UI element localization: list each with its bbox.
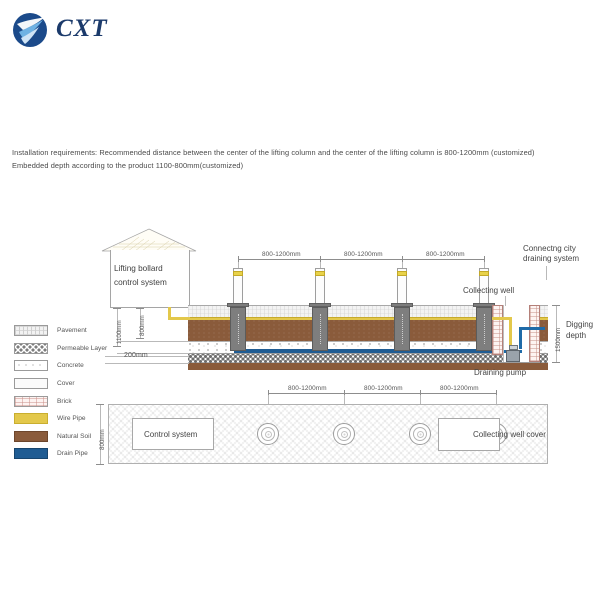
bollard-flange: [473, 303, 495, 307]
collecting-well-right-wall: [529, 305, 540, 362]
depth-800-dim-line: [140, 308, 141, 338]
legend-label: Natural Soil: [57, 433, 91, 440]
legend-item-cover: Cover: [14, 375, 134, 393]
legend-label: Drain Pipe: [57, 450, 88, 457]
bollard-casing: [394, 307, 410, 351]
wire-pipe-into-well: [509, 317, 512, 347]
section-dim-leader: [484, 262, 485, 270]
bollard-reflective-band-icon: [397, 271, 407, 276]
plan-width-label: 800mm: [99, 429, 106, 450]
wire-pipe-well-elbow: [492, 317, 512, 320]
diagram-page: CXT Installation requirements: Recommend…: [0, 0, 600, 600]
city-drain-leader: [546, 266, 547, 280]
drain-pipe-base: [504, 350, 522, 353]
depth-800-label: 800mm: [139, 315, 146, 336]
brand-logo: CXT: [10, 8, 190, 52]
legend-label: Permeable Layer: [57, 345, 107, 352]
section-spacing-label-1: 800-1200mm: [262, 251, 301, 258]
section-dim-leader: [238, 262, 239, 270]
collecting-well-left-wall: [492, 305, 503, 355]
section-dim-line-3: [402, 259, 484, 260]
concrete-layer: [188, 341, 548, 354]
note-line-1: Installation requirements: Recommended d…: [12, 146, 592, 159]
digging-depth-tick-top: [552, 305, 560, 306]
bollard-flange: [227, 303, 249, 307]
draining-pump: [506, 350, 520, 362]
wire-pipe-run: [168, 317, 190, 320]
wire-pipe-layer: [188, 317, 548, 322]
section-dim-leader: [320, 262, 321, 270]
section-dim-tick: [238, 256, 239, 264]
bollard-reflective-band-icon: [315, 271, 325, 276]
city-drain-label-line1: Connectng city: [523, 244, 576, 253]
plan-spacing-label-3: 800-1200mm: [440, 385, 479, 392]
control-system-label: Lifting bollard control system: [114, 262, 190, 290]
control-system-label-line2: control system: [114, 276, 190, 290]
legend-item-concrete: Concrete: [14, 357, 134, 375]
bollard-casing: [230, 307, 246, 351]
depth-800-tick-bottom: [136, 338, 144, 339]
plan-width-tick-top: [96, 404, 104, 405]
pavement-layer: [188, 305, 548, 319]
digging-depth-dim-line: [556, 305, 557, 362]
bollard-reflective-band-icon: [233, 271, 243, 276]
collecting-well-leader: [505, 296, 506, 306]
note-line-2: Embedded depth according to the product …: [12, 159, 592, 172]
section-dim-leader: [402, 262, 403, 270]
plan-width-tick-bottom: [96, 464, 104, 465]
control-house-body: [110, 250, 190, 308]
control-system-label-line1: Lifting bollard: [114, 262, 190, 276]
section-spacing-label-3: 800-1200mm: [426, 251, 465, 258]
bollard-shaft: [233, 268, 243, 306]
bollard-casing: [476, 307, 492, 351]
section-dim-line-2: [320, 259, 402, 260]
plan-control-system-label: Control system: [144, 430, 197, 439]
bollard-shaft: [315, 268, 325, 306]
plan-bollard-cover: [333, 423, 355, 445]
legend-item-permeable-layer: Permeable Layer: [14, 340, 134, 358]
city-drain-label-line2: draining system: [523, 254, 579, 263]
depth-1100-tick-top: [113, 308, 121, 309]
depth-800-tick-top: [136, 308, 144, 309]
plan-bollard-cover: [257, 423, 279, 445]
legend-label: Pavement: [57, 327, 87, 334]
concrete-swatch-icon: [14, 360, 48, 371]
legend-label: Brick: [57, 398, 72, 405]
installation-note: Installation requirements: Recommended d…: [12, 146, 592, 172]
digging-depth-label-line2: depth: [566, 331, 586, 340]
brick-swatch-icon: [14, 396, 48, 407]
permeable-layer: [188, 353, 548, 365]
legend-label: Concrete: [57, 362, 84, 369]
permeable-layer-swatch-icon: [14, 343, 48, 354]
control-house-roof: [101, 228, 197, 252]
bollard-casing: [312, 307, 328, 351]
legend-label: Cover: [57, 380, 75, 387]
collecting-well-chamber: [503, 305, 531, 362]
plan-bollard-cover: [409, 423, 431, 445]
section-dim-tick: [320, 256, 321, 264]
cross-section-view: Lifting bollard control system 800-1200m…: [0, 0, 600, 600]
collecting-well-floor: [492, 362, 540, 363]
section-dim-tick: [484, 256, 485, 264]
natural-soil-swatch-icon: [14, 431, 48, 442]
drain-pipe-swatch-icon: [14, 448, 48, 459]
collecting-well-label: Collecting well: [463, 286, 514, 295]
bollard-flange: [309, 303, 331, 307]
pavement-swatch-icon: [14, 325, 48, 336]
drain-pipe-layer: [234, 349, 524, 352]
plan-dim-line-2: [344, 393, 420, 394]
cxt-globe-logo-icon: [10, 10, 50, 50]
section-dim-tick: [402, 256, 403, 264]
section-dim-line-1: [238, 259, 320, 260]
pump-outlet: [509, 345, 518, 350]
plan-collecting-well-cover-label: Collecting well cover: [473, 430, 546, 439]
plan-spacing-label-2: 800-1200mm: [364, 385, 403, 392]
bollard-reflective-band-icon: [479, 271, 489, 276]
digging-depth-label-line1: Digging: [566, 320, 593, 329]
bollard-shaft: [479, 268, 489, 306]
legend-label: Wire Pipe: [57, 415, 86, 422]
draining-pump-label: Draining pump: [474, 368, 526, 377]
section-spacing-label-2: 800-1200mm: [344, 251, 383, 258]
plan-dim-line-3: [420, 393, 496, 394]
digging-depth-value: 1500mm: [555, 328, 562, 352]
cover-swatch-icon: [14, 378, 48, 389]
wire-pipe-swatch-icon: [14, 413, 48, 424]
legend-item-pavement: Pavement: [14, 322, 134, 340]
brand-name: CXT: [56, 15, 108, 43]
wire-pipe-riser: [168, 307, 171, 319]
base-soil-layer: [188, 363, 548, 370]
bollard-flange: [391, 303, 413, 307]
drain-pipe-to-city: [519, 327, 545, 330]
drain-pipe-vertical: [519, 327, 522, 349]
natural-soil-layer: [188, 320, 548, 341]
digging-depth-tick-bottom: [552, 362, 560, 363]
bollard-shaft: [397, 268, 407, 306]
plan-spacing-label-1: 800-1200mm: [288, 385, 327, 392]
plan-dim-line-1: [268, 393, 344, 394]
